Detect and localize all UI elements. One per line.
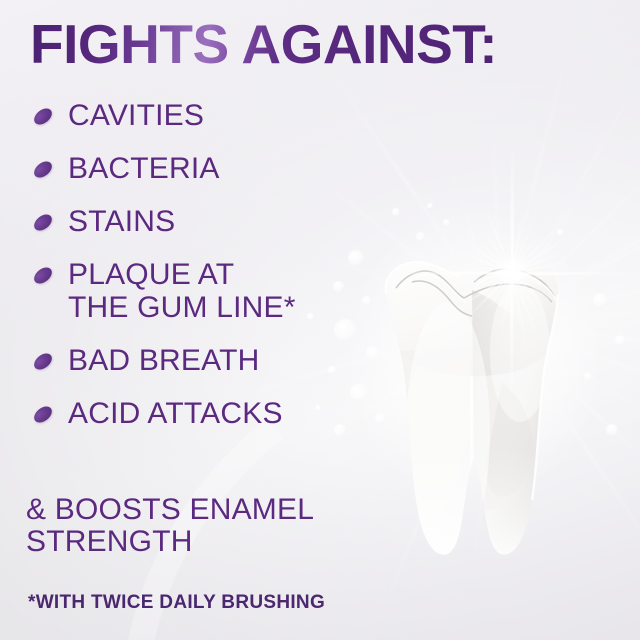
molar-tooth-illustration xyxy=(352,232,596,562)
ellipse-bullet-icon xyxy=(31,105,55,128)
page-title: FIGHTS AGAINST: xyxy=(30,17,497,72)
benefit-item: CAVITIES xyxy=(30,100,370,132)
ellipse-bullet-icon xyxy=(31,211,55,234)
benefit-item-label: BAD BREATH xyxy=(68,344,259,377)
ellipse-bullet-icon xyxy=(31,158,55,181)
benefit-item-label: ACID ATTACKS xyxy=(68,397,283,430)
footnote: *WITH TWICE DAILY BRUSHING xyxy=(28,592,325,614)
benefit-item: BACTERIA xyxy=(30,153,370,185)
benefit-item-label: PLAQUE AT THE GUM LINE* xyxy=(68,258,296,323)
benefit-list: CAVITIESBACTERIASTAINSPLAQUE AT THE GUM … xyxy=(30,100,370,430)
benefit-item-label: STAINS xyxy=(68,205,175,238)
benefit-item-label: BACTERIA xyxy=(68,152,220,185)
ellipse-bullet-icon xyxy=(31,350,55,373)
ellipse-bullet-icon xyxy=(31,403,55,426)
benefit-item: PLAQUE AT THE GUM LINE* xyxy=(30,259,370,324)
benefit-item: BAD BREATH xyxy=(30,345,370,377)
benefit-item: ACID ATTACKS xyxy=(30,398,370,430)
benefit-item-label: CAVITIES xyxy=(68,99,204,132)
fights-against-poster: FIGHTS AGAINST: CAVITIESBACTERIASTAINSPL… xyxy=(0,0,640,640)
closing-statement: & BOOSTS ENAMEL STRENGTH xyxy=(26,494,386,559)
benefit-item: STAINS xyxy=(30,206,370,238)
ellipse-bullet-icon xyxy=(31,265,55,288)
